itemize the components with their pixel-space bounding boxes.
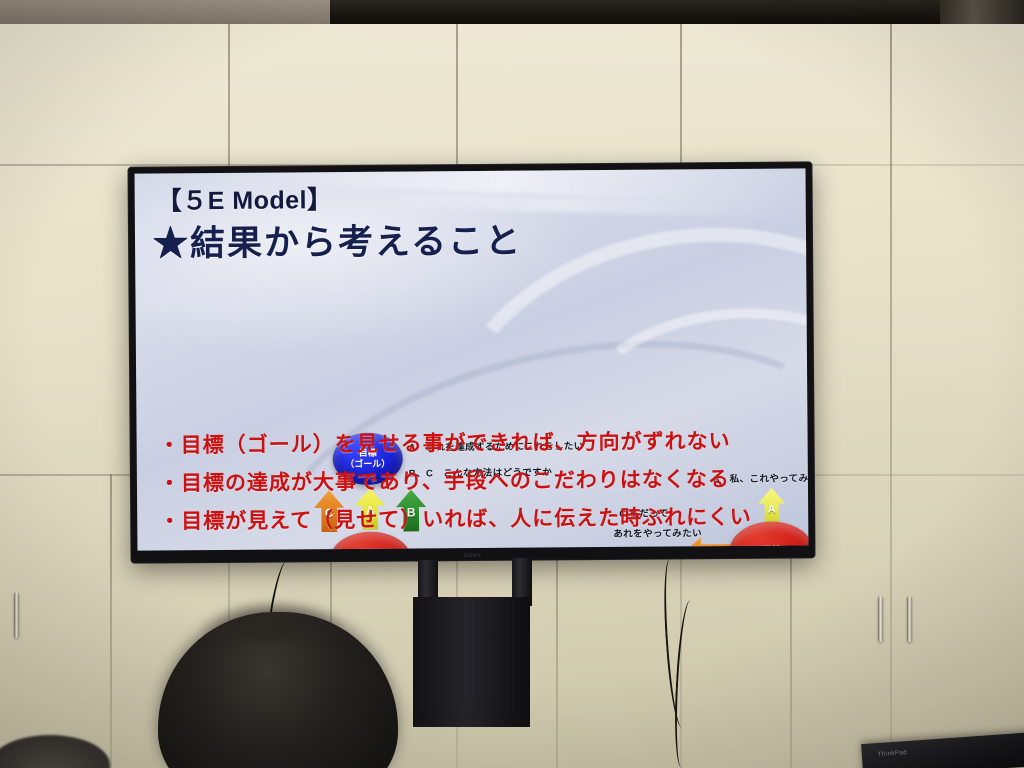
- bullet-item: ・目標が見えて（見せて）いれば、人に伝えた時ぶれにくい: [159, 506, 799, 532]
- slide-title: ★結果から考えること: [153, 213, 522, 267]
- tv-stand-box: [413, 597, 530, 727]
- cabinet-handle[interactable]: [14, 592, 19, 638]
- tv-brand-label: SONY: [464, 553, 482, 559]
- cabinet-seam: [890, 24, 892, 768]
- cabinet-panel[interactable]: [892, 24, 1024, 768]
- cabinet-handle[interactable]: [878, 596, 883, 642]
- ceiling-right-strip: [940, 0, 1024, 26]
- room-scene: SONY 【５E Model】 ★結果から考えること 目標 （ゴール） A あれ…: [0, 0, 1024, 768]
- bullet-item: ・目標の達成が大事であり、手段へのこだわりはなくなる: [159, 468, 799, 494]
- slide-header: 【５E Model】: [157, 180, 333, 217]
- tv-screen[interactable]: 【５E Model】 ★結果から考えること 目標 （ゴール） A あれを達成する…: [135, 168, 809, 550]
- cabinet-seam: [110, 474, 112, 768]
- cabinet-handle[interactable]: [907, 596, 912, 642]
- ceiling-left-beam: [0, 0, 330, 24]
- bullet-item: ・目標（ゴール）を見せる事ができれば、方向がずれない: [159, 430, 799, 456]
- presentation-slide: 【５E Model】 ★結果から考えること 目標 （ゴール） A あれを達成する…: [135, 168, 809, 550]
- television[interactable]: SONY 【５E Model】 ★結果から考えること 目標 （ゴール） A あれ…: [128, 162, 814, 562]
- laptop-logo: ThinkPad: [878, 750, 908, 758]
- bullet-list: ・目標（ゴール）を見せる事ができれば、方向がずれない ・目標の達成が大事であり、…: [159, 430, 800, 549]
